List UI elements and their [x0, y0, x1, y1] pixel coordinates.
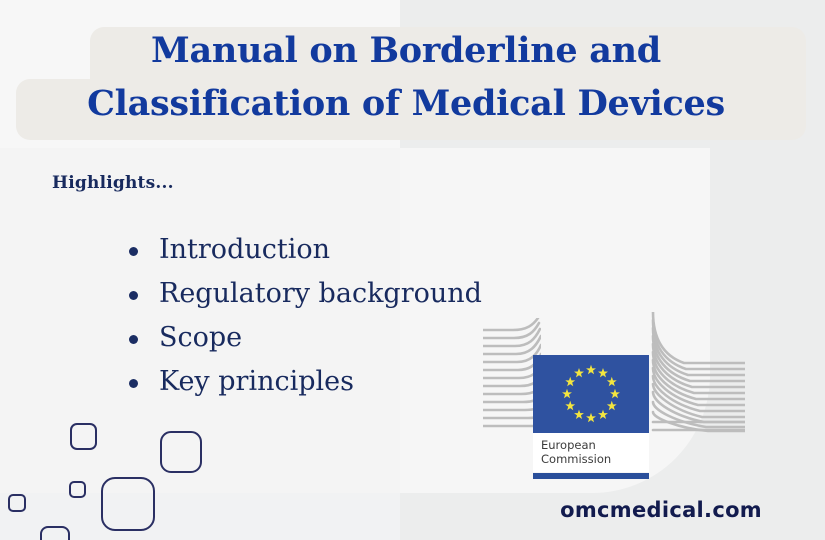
eu-logo-line-1: European — [541, 438, 641, 452]
list-item-label: Scope — [159, 322, 242, 353]
list-item: Regulatory background — [124, 272, 482, 316]
right-wing-lines-icon — [650, 312, 745, 434]
presentation-slide: Manual on Borderline and Classification … — [0, 0, 825, 540]
decorative-square — [40, 526, 70, 540]
bullet-dot-icon — [129, 379, 138, 388]
page-title: Manual on Borderline and Classification … — [0, 24, 812, 130]
list-item-label: Regulatory background — [159, 278, 482, 309]
eu-logo-text: European Commission — [533, 433, 649, 472]
list-item-label: Introduction — [159, 234, 330, 265]
bullet-dot-icon — [129, 247, 138, 256]
title-line-1: Manual on Borderline and — [151, 30, 661, 71]
european-commission-logo: European Commission — [533, 355, 649, 479]
list-item: Introduction — [124, 228, 482, 272]
title-line-2: Classification of Medical Devices — [0, 77, 812, 130]
list-item: Scope — [124, 316, 482, 360]
eu-flag-icon — [533, 355, 649, 433]
eu-logo-line-2: Commission — [541, 452, 641, 466]
decorative-square — [70, 423, 97, 450]
site-url: omcmedical.com — [0, 498, 762, 522]
list-item-label: Key principles — [159, 366, 354, 397]
eu-logo-bottom-bar — [533, 473, 649, 479]
list-item: Key principles — [124, 360, 482, 404]
bullet-dot-icon — [129, 335, 138, 344]
decorative-square — [69, 481, 86, 498]
highlights-label: Highlights... — [52, 173, 174, 193]
bullet-dot-icon — [129, 291, 138, 300]
decorative-square — [160, 431, 202, 473]
eu-stars-icon — [533, 355, 649, 433]
highlights-bullet-list: IntroductionRegulatory backgroundScopeKe… — [124, 228, 482, 404]
